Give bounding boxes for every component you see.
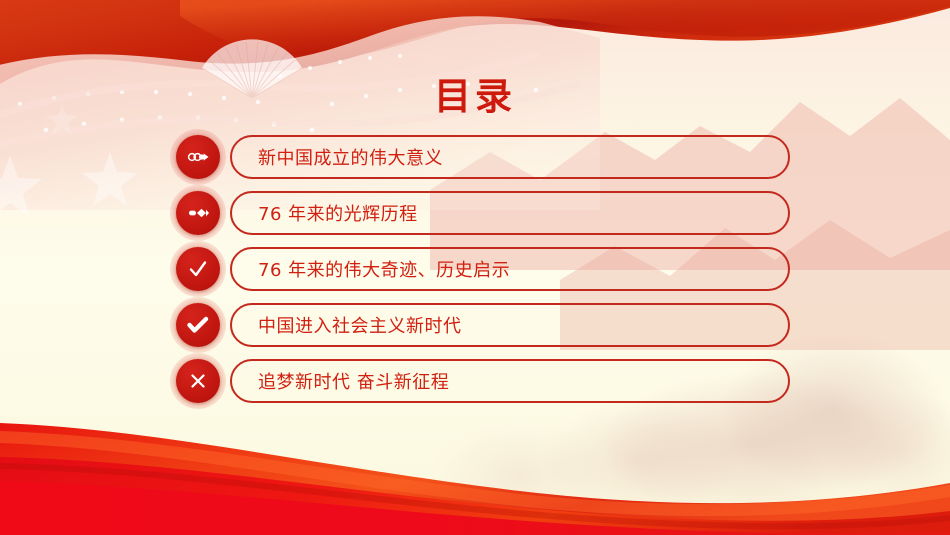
badge-circle (176, 359, 220, 403)
toc-badge-2 (170, 185, 226, 241)
toc-item-label: 追梦新时代 奋斗新征程 (232, 368, 449, 394)
toc-badge-1 (170, 129, 226, 185)
toc-badge-5 (170, 353, 226, 409)
badge-circle (176, 247, 220, 291)
list-item[interactable]: 追梦新时代 奋斗新征程 (170, 353, 790, 409)
badge-circle (176, 303, 220, 347)
list-item[interactable]: 新中国成立的伟大意义 (170, 129, 790, 185)
toc-badge-4 (170, 297, 226, 353)
toc-item-label: 新中国成立的伟大意义 (232, 144, 443, 170)
key-outline-icon (187, 150, 209, 164)
close-x-icon (188, 371, 208, 391)
toc-pill-4[interactable]: 中国进入社会主义新时代 (230, 303, 790, 347)
list-item[interactable]: 76 年来的伟大奇迹、历史启示 (170, 241, 790, 297)
toc-item-label: 中国进入社会主义新时代 (232, 312, 462, 338)
check-bold-icon (186, 315, 210, 335)
list-item[interactable]: 76 年来的光辉历程 (170, 185, 790, 241)
list-item[interactable]: 中国进入社会主义新时代 (170, 297, 790, 353)
badge-circle (176, 135, 220, 179)
toc-pill-1[interactable]: 新中国成立的伟大意义 (230, 135, 790, 179)
toc-pill-5[interactable]: 追梦新时代 奋斗新征程 (230, 359, 790, 403)
presentation-slide: 目录 新中国成立的伟大意义 (0, 0, 950, 535)
table-of-contents: 新中国成立的伟大意义 76 年来的光辉历程 (170, 129, 790, 409)
toc-pill-2[interactable]: 76 年来的光辉历程 (230, 191, 790, 235)
toc-pill-3[interactable]: 76 年来的伟大奇迹、历史启示 (230, 247, 790, 291)
badge-circle (176, 191, 220, 235)
key-solid-icon (187, 206, 209, 220)
check-thin-icon (187, 259, 209, 279)
toc-item-label: 76 年来的光辉历程 (232, 200, 418, 226)
page-title: 目录 (0, 78, 950, 115)
toc-item-label: 76 年来的伟大奇迹、历史启示 (232, 256, 510, 282)
toc-badge-3 (170, 241, 226, 297)
